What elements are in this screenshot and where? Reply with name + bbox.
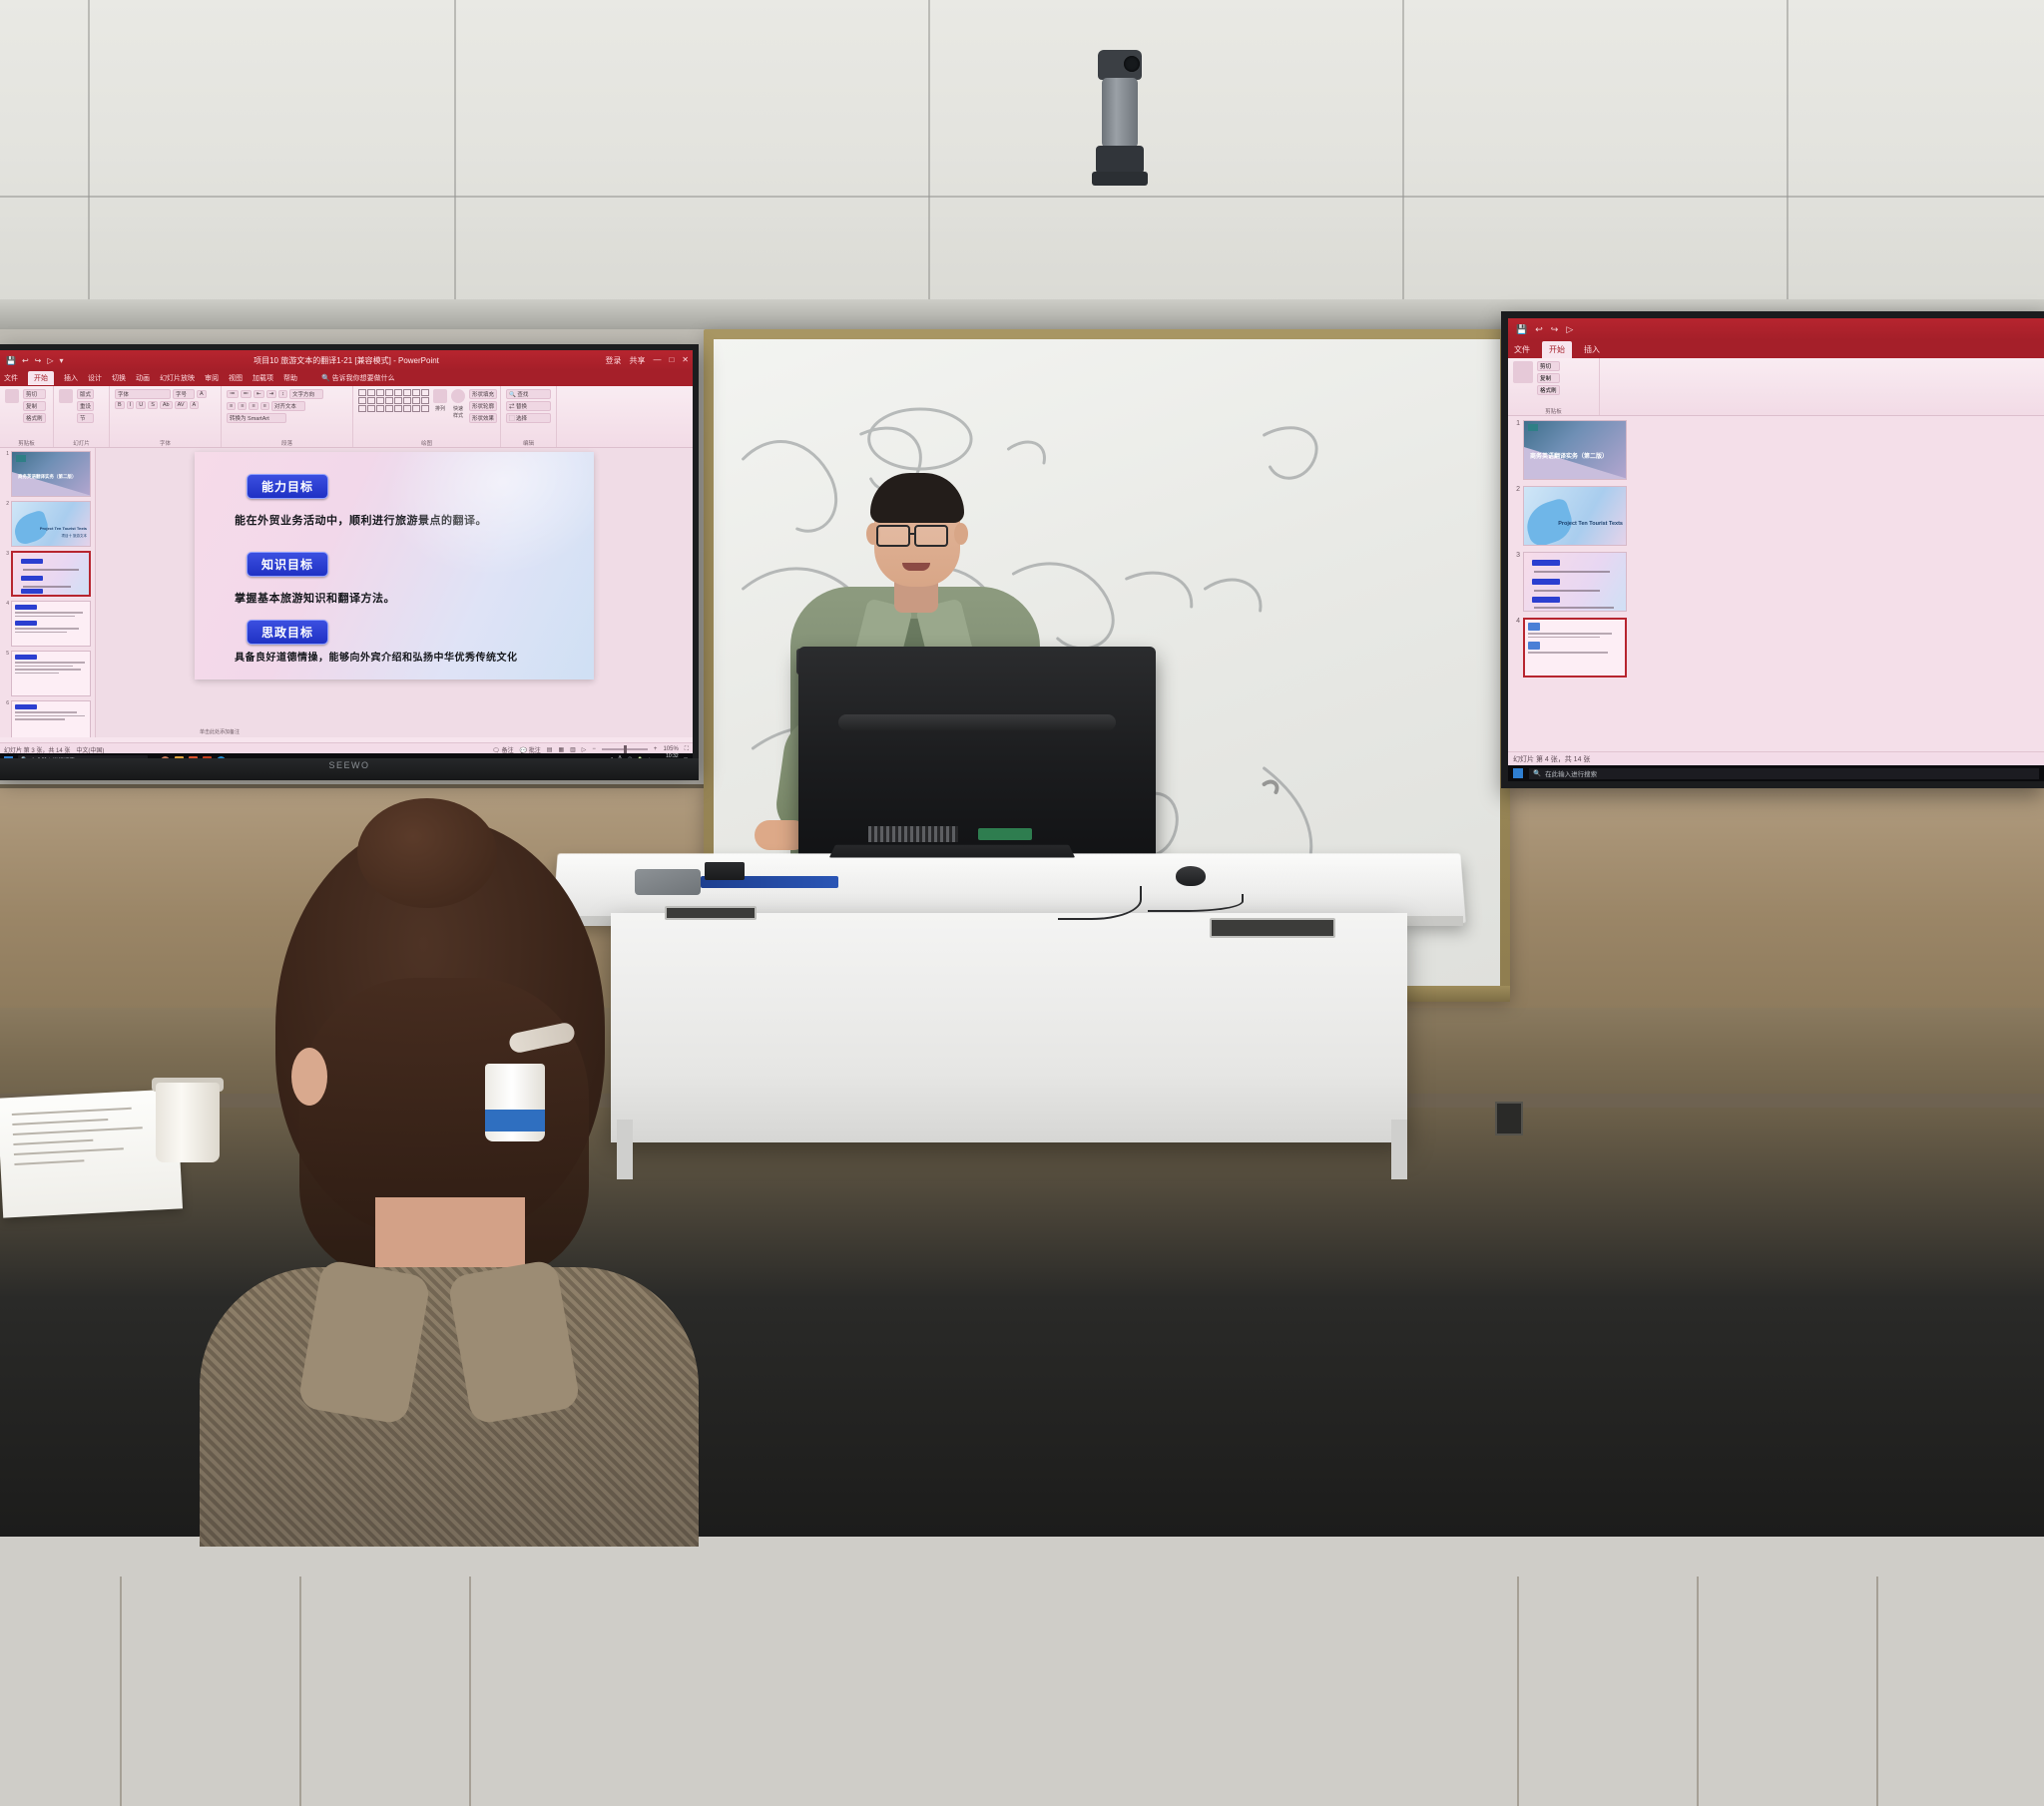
publisher-logo	[16, 455, 26, 462]
arrange-label: 排列	[433, 405, 447, 412]
right-search-placeholder: 在此输入进行搜索	[1545, 768, 1597, 778]
minimize-button[interactable]: —	[653, 355, 661, 366]
right-tab-home[interactable]: 开始	[1542, 341, 1572, 358]
thumbnail-number: 5	[2, 651, 9, 696]
ptz-camera	[1090, 50, 1150, 190]
lectern-cable-port-right	[1210, 918, 1335, 938]
shape-fill-button[interactable]: 形状填充	[469, 389, 497, 399]
right-slide-thumbnail-panel[interactable]: 1 商务英语翻译实务（第二版） 2 Project T	[1508, 416, 2044, 751]
tab-insert[interactable]: 插入	[64, 373, 78, 383]
powerpoint-window[interactable]: 💾 ↩ ↪ ▷ ▾ 项目10 旅游文本的翻译1-21 [兼容模式] - Powe…	[0, 350, 693, 767]
italic-icon[interactable]: I	[127, 401, 135, 409]
window-title: 项目10 旅游文本的翻译1-21 [兼容模式] - PowerPoint	[0, 355, 693, 366]
thumbnail-preview[interactable]: 商务英语翻译实务（第二版）	[11, 451, 91, 497]
editor-body: 1 商务英语翻译实务（第二版） 2	[0, 448, 693, 737]
right-thumbnail-2[interactable]: 2 Project Ten Tourist Texts	[1511, 486, 2041, 546]
teacher-glasses-right	[914, 525, 948, 547]
ribbon-group-clipboard[interactable]: 剪切 复制 格式刷 剪贴板	[0, 386, 54, 447]
shadow-icon[interactable]: Ab	[160, 401, 173, 409]
convert-smartart-button[interactable]: 转换为 SmartArt	[227, 413, 286, 423]
thumbnail-preview[interactable]: Project Ten Tourist Texts	[1523, 486, 1627, 546]
new-slide-icon[interactable]	[59, 389, 73, 403]
chip-knowledge	[21, 576, 43, 581]
format-painter-button[interactable]: 格式刷	[23, 413, 46, 423]
window-controls[interactable]: 登录 共享 — □ ✕	[605, 355, 689, 366]
thumbnail-5[interactable]: 5	[2, 651, 93, 696]
thumbnail-2[interactable]: 2 Project Ten Tourist Texts 项目十 旅游文本	[2, 501, 93, 547]
right-thumbnail-1[interactable]: 1 商务英语翻译实务（第二版）	[1511, 420, 2041, 480]
thumbnail-preview[interactable]	[11, 651, 91, 696]
right-cut-button[interactable]: 剪切	[1537, 361, 1560, 371]
right-status-bar: 幻灯片 第 4 张，共 14 张	[1508, 751, 2044, 765]
tab-help[interactable]: 帮助	[283, 373, 297, 383]
project-title-cn: 项目十 旅游文本	[62, 534, 87, 539]
thumbnail-number: 3	[2, 551, 9, 597]
camera-head	[1098, 50, 1142, 80]
paste-icon[interactable]	[5, 389, 19, 403]
dolphin-slide-art: Project Ten Tourist Texts	[1524, 487, 1626, 545]
text-ideology-goal: 具备良好道德情操，能够向外宾介绍和弘扬中华优秀传统文化	[235, 652, 564, 667]
align-right-icon[interactable]: ≡	[249, 402, 257, 410]
right-search-input[interactable]: 🔍 在此输入进行搜索	[1529, 768, 2039, 779]
right-ribbon-group-clipboard[interactable]: 剪切 复制 格式刷 剪贴板	[1508, 358, 1600, 415]
right-titlebar: 💾 ↩ ↪ ▷	[1508, 318, 2044, 340]
select-button[interactable]: ⬚ 选择	[506, 413, 551, 423]
drink-cup-label	[485, 1110, 545, 1131]
thumbnail-3[interactable]: 3	[2, 551, 93, 597]
right-thumbnail-4[interactable]: 4	[1511, 618, 2041, 677]
camera-body	[1102, 78, 1138, 148]
numbering-icon[interactable]: ≕	[241, 390, 253, 398]
signin-label[interactable]: 登录	[605, 355, 621, 366]
project-title-en: Project Ten Tourist Texts	[1558, 521, 1623, 527]
group-label-font: 字体	[115, 439, 216, 447]
ribbon-group-editing[interactable]: 🔍 查找 ⇄ 替换 ⬚ 选择 编辑	[501, 386, 557, 447]
thumbnail-4[interactable]: 4	[2, 601, 93, 647]
slide-thumbnail-panel[interactable]: 1 商务英语翻译实务（第二版） 2	[0, 448, 96, 737]
layout-button[interactable]: 版式	[77, 389, 94, 399]
right-undo-icon[interactable]: ↩	[1535, 324, 1543, 335]
group-label-drawing: 绘图	[358, 439, 495, 447]
thumbnail-number: 1	[1511, 420, 1520, 480]
classroom-scene: 💾 ↩ ↪ ▷ ▾ 项目10 旅游文本的翻译1-21 [兼容模式] - Powe…	[0, 0, 2044, 1533]
thumbnail-preview[interactable]: 商务英语翻译实务（第二版）	[1523, 420, 1627, 480]
goals-slide-art	[1524, 553, 1626, 611]
font-color-icon[interactable]: A	[190, 401, 200, 409]
lectern-front	[611, 913, 1407, 1142]
cut-button[interactable]: 剪切	[23, 389, 46, 399]
camera-wall-plate	[1092, 172, 1148, 186]
maximize-button[interactable]: □	[669, 355, 674, 366]
zoom-out-icon[interactable]: −	[592, 746, 596, 752]
increase-font-icon[interactable]: A	[197, 390, 207, 398]
student-coat	[200, 1267, 699, 1547]
tab-slideshow[interactable]: 幻灯片放映	[160, 373, 195, 383]
right-slide-counter: 幻灯片 第 4 张，共 14 张	[1513, 754, 1590, 764]
thumbnail-preview[interactable]	[11, 700, 91, 737]
right-ribbon[interactable]: 剪切 复制 格式刷 剪贴板	[1508, 358, 2044, 416]
section-button[interactable]: 节	[77, 413, 94, 423]
zoom-slider[interactable]	[602, 748, 648, 750]
group-label-clipboard: 剪贴板	[5, 439, 48, 447]
right-powerpoint-window[interactable]: 💾 ↩ ↪ ▷ 文件 开始 插入 剪切 复制 格式刷	[1508, 318, 2044, 781]
ribbon-group-slides[interactable]: 版式 重设 节 幻灯片	[54, 386, 110, 447]
view-sorter-icon[interactable]: ▦	[558, 746, 564, 753]
project-title-en: Project Ten Tourist Texts	[40, 526, 87, 531]
list-slide-art	[12, 602, 90, 646]
thumbnail-number: 3	[1511, 552, 1520, 612]
monitor-vent	[838, 714, 1116, 730]
tab-home[interactable]: 开始	[28, 371, 54, 385]
right-format-painter-button[interactable]: 格式刷	[1537, 385, 1560, 395]
thumbnail-number: 2	[1511, 486, 1520, 546]
ribbon[interactable]: 剪切 复制 格式刷 剪贴板 版式 重设 节	[0, 386, 693, 448]
bold-icon[interactable]: B	[115, 401, 125, 409]
text-ability-goal: 能在外贸业务活动中，顺利进行旅游景点的翻译。	[235, 514, 564, 530]
list-slide-art	[12, 652, 90, 695]
chip-knowledge-goal: 知识目标	[247, 552, 328, 577]
find-button[interactable]: 🔍 查找	[506, 389, 551, 399]
tab-addins[interactable]: 加载项	[253, 373, 273, 383]
teacher-glasses-left	[876, 525, 910, 547]
ribbon-group-paragraph[interactable]: ≔ ≕ ⇤ ⇥ ↕ 文字方向 ≡ ≡ ≡ ≡ 对齐文本	[222, 386, 353, 447]
char-spacing-icon[interactable]: AV	[175, 401, 188, 409]
tab-review[interactable]: 审阅	[205, 373, 219, 383]
ribbon-group-drawing[interactable]: 排列 快速样式 形状填充 形状轮廓 形状效果 绘图	[353, 386, 501, 447]
student-hair-bun	[357, 798, 497, 908]
copy-button[interactable]: 复制	[23, 401, 46, 411]
teacher-mouth	[902, 563, 930, 571]
ribbon-group-font[interactable]: 字体 字号 A B I U S Ab AV A	[110, 386, 222, 447]
quick-styles-icon[interactable]	[451, 389, 465, 403]
view-reading-icon[interactable]: ▥	[570, 746, 576, 753]
right-tab-insert[interactable]: 插入	[1584, 344, 1600, 355]
thumbnail-preview[interactable]: Project Ten Tourist Texts 项目十 旅游文本	[11, 501, 91, 547]
keyboard[interactable]	[829, 845, 1075, 858]
tab-design[interactable]: 设计	[88, 373, 102, 383]
tell-me-search[interactable]: 🔍 告诉我你想要做什么	[321, 373, 395, 383]
view-slideshow-icon[interactable]: ▷	[582, 746, 587, 753]
replace-label: 替换	[516, 404, 527, 410]
mouse[interactable]	[1176, 866, 1206, 886]
group-label-editing: 编辑	[506, 439, 551, 447]
shapes-gallery[interactable]	[358, 389, 429, 412]
right-paste-icon[interactable]	[1513, 361, 1533, 383]
chip-ideology-goal: 思政目标	[247, 620, 328, 645]
align-text-button[interactable]: 对齐文本	[271, 401, 305, 411]
thumbnail-6[interactable]: 6	[2, 700, 93, 737]
tab-animations[interactable]: 动画	[136, 373, 150, 383]
ceiling-panels	[0, 0, 2044, 344]
tell-me-label: 告诉我你想要做什么	[332, 375, 395, 382]
right-ribbon-tabs[interactable]: 文件 开始 插入	[1508, 340, 2044, 358]
close-button[interactable]: ✕	[682, 355, 689, 366]
cover-slide-art: 商务英语翻译实务（第二版）	[1524, 421, 1626, 479]
ribbon-tabs[interactable]: 文件 开始 插入 设计 切换 动画 幻灯片放映 审阅 视图 加载项 帮助 🔍 告…	[0, 370, 693, 386]
teacher-ear-right	[954, 523, 968, 545]
smartphone	[705, 862, 745, 880]
reset-button[interactable]: 重设	[77, 401, 94, 411]
right-thumbnail-3[interactable]: 3	[1511, 552, 2041, 612]
publisher-logo	[1528, 424, 1538, 431]
find-label: 查找	[517, 392, 528, 398]
increase-indent-icon[interactable]: ⇥	[266, 390, 277, 398]
chip-ability-goal: 能力目标	[247, 474, 328, 499]
right-smartboard[interactable]: 💾 ↩ ↪ ▷ 文件 开始 插入 剪切 复制 格式刷	[1501, 311, 2044, 788]
cover-title: 商务英语翻译实务（第二版）	[18, 474, 77, 480]
text-direction-button[interactable]: 文字方向	[289, 389, 323, 399]
bullets-icon[interactable]: ≔	[227, 390, 239, 398]
left-smartboard[interactable]: 💾 ↩ ↪ ▷ ▾ 项目10 旅游文本的翻译1-21 [兼容模式] - Powe…	[0, 344, 699, 773]
camera-lens-icon	[1124, 56, 1140, 72]
camera-mount	[1096, 146, 1144, 174]
arrange-icon[interactable]	[433, 389, 447, 403]
cover-title: 商务英语翻译实务（第二版）	[1530, 451, 1608, 460]
justify-icon[interactable]: ≡	[260, 402, 269, 410]
titlebar: 💾 ↩ ↪ ▷ ▾ 项目10 旅游文本的翻译1-21 [兼容模式] - Powe…	[0, 350, 693, 370]
font-name-box[interactable]: 字体	[115, 389, 171, 399]
dolphin-slide-art: Project Ten Tourist Texts 项目十 旅游文本	[12, 502, 90, 546]
teacher-hair	[870, 473, 964, 523]
cover-slide-art: 商务英语翻译实务（第二版）	[12, 452, 90, 496]
font-size-box[interactable]: 字号	[173, 389, 195, 399]
view-normal-icon[interactable]: ▤	[547, 746, 553, 753]
shape-outline-button[interactable]: 形状轮廓	[469, 401, 497, 411]
fit-to-window-icon[interactable]: ⛶	[685, 746, 689, 753]
group-label-slides: 幻灯片	[59, 439, 104, 447]
strikethrough-icon[interactable]: S	[148, 401, 158, 409]
search-icon: 🔍	[1533, 769, 1541, 777]
text-knowledge-goal: 掌握基本旅游知识和翻译方法。	[235, 592, 564, 608]
thumbnail-number: 1	[2, 451, 9, 497]
list-slide-art	[12, 701, 90, 737]
shape-effects-button[interactable]: 形状效果	[469, 413, 497, 423]
zoom-in-icon[interactable]: +	[654, 746, 658, 752]
thumbnail-number: 6	[2, 700, 9, 737]
notes-placeholder[interactable]: 单击此处添加备注	[200, 728, 240, 735]
thumbnail-number: 2	[2, 501, 9, 547]
lectern-leg-right	[1391, 1120, 1407, 1179]
replace-button[interactable]: ⇄ 替换	[506, 401, 551, 411]
tab-file[interactable]: 文件	[4, 373, 18, 383]
thumbnail-number: 4	[1511, 618, 1520, 677]
monitor-rear	[798, 647, 1156, 864]
student-ear	[291, 1048, 327, 1106]
thumbnail-number: 4	[2, 601, 9, 647]
monitor-brand-label: SEEWO	[0, 760, 699, 770]
slide-editing-pane[interactable]: 能力目标 能在外贸业务活动中，顺利进行旅游景点的翻译。 知识目标 掌握基本旅游知…	[96, 448, 693, 737]
student-person	[180, 798, 699, 1537]
thumbnail-preview[interactable]	[11, 601, 91, 647]
align-left-icon[interactable]: ≡	[227, 402, 236, 410]
select-label: 选择	[516, 416, 527, 422]
thumbnail-preview-selected[interactable]	[1523, 618, 1627, 677]
right-tab-file[interactable]: 文件	[1514, 344, 1530, 355]
teacher-glasses-bridge	[910, 533, 916, 535]
thumbnail-1[interactable]: 1 商务英语翻译实务（第二版）	[2, 451, 93, 497]
group-label-paragraph: 段落	[227, 439, 347, 447]
goals-slide-art	[13, 553, 89, 595]
right-windows-taskbar[interactable]: 🔍 在此输入进行搜索	[1508, 765, 2044, 781]
decrease-indent-icon[interactable]: ⇤	[254, 390, 264, 398]
chip-ideology	[21, 589, 43, 594]
wall-socket	[1495, 1102, 1523, 1135]
right-redo-icon[interactable]: ↪	[1551, 324, 1559, 335]
align-center-icon[interactable]: ≡	[238, 402, 247, 410]
share-button[interactable]: 共享	[629, 355, 645, 366]
thumbnail-preview[interactable]	[1523, 552, 1627, 612]
list-slide-art	[1525, 620, 1625, 676]
current-slide[interactable]: 能力目标 能在外贸业务活动中，顺利进行旅游景点的翻译。 知识目标 掌握基本旅游知…	[195, 452, 594, 679]
tab-transitions[interactable]: 切换	[112, 373, 126, 383]
wainscot-seams	[0, 1577, 2044, 1806]
paper-cup	[156, 1083, 220, 1162]
right-save-icon[interactable]: 💾	[1516, 324, 1527, 335]
tab-view[interactable]: 视图	[229, 373, 243, 383]
right-copy-button[interactable]: 复制	[1537, 373, 1560, 383]
chip-ability	[21, 559, 43, 564]
zoom-level[interactable]: 105%	[663, 746, 678, 752]
right-group-label-clipboard: 剪贴板	[1513, 407, 1594, 415]
line-spacing-icon[interactable]: ↕	[278, 390, 287, 398]
quick-styles-label: 快速样式	[451, 405, 465, 419]
underline-icon[interactable]: U	[136, 401, 146, 409]
monitor-label	[868, 826, 958, 842]
monitor-sticker	[978, 828, 1032, 840]
thumbnail-preview-selected[interactable]	[11, 551, 91, 597]
right-start-icon[interactable]	[1513, 768, 1523, 778]
right-slideshow-icon[interactable]: ▷	[1566, 324, 1573, 335]
